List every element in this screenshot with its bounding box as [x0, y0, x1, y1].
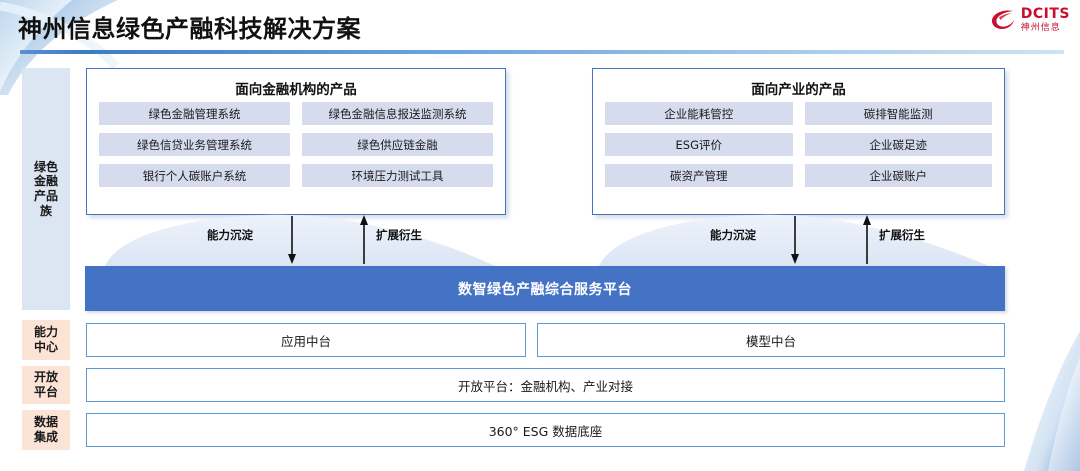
- platform-bar[interactable]: 数智绿色产融综合服务平台: [85, 266, 1005, 311]
- slide-canvas: 神州信息绿色产融科技解决方案 DCITS 神州信息 绿色金融产品族 能力中心 开…: [0, 0, 1080, 471]
- product-chip[interactable]: 绿色供应链金融: [302, 133, 493, 156]
- rail-item-green-finance-products: 绿色金融产品族: [22, 68, 70, 310]
- logo-text-en: DCITS: [1021, 7, 1070, 21]
- product-chip[interactable]: 碳排智能监测: [805, 102, 993, 125]
- product-chip[interactable]: 企业能耗管控: [605, 102, 793, 125]
- product-chip[interactable]: 绿色金融信息报送监测系统: [302, 102, 493, 125]
- arch-shape-left: [85, 214, 515, 266]
- layer-box-application-middle-platform[interactable]: 应用中台: [86, 323, 526, 357]
- product-chip[interactable]: 绿色信贷业务管理系统: [99, 133, 290, 156]
- layer-box-esg-data-foundation[interactable]: 360° ESG 数据底座: [86, 413, 1005, 447]
- layer-box-label: 开放平台：金融机构、产业对接: [458, 376, 633, 395]
- flow-label-extension-derivation: 扩展衍生: [376, 227, 422, 243]
- arrow-up-icon-right: [860, 214, 874, 266]
- logo-text-cn: 神州信息: [1021, 24, 1070, 33]
- product-panel-industry: 面向产业的产品 企业能耗管控 碳排智能监测 ESG评价 企业碳足迹 碳资产管理 …: [592, 68, 1005, 215]
- layer-box-label: 模型中台: [746, 331, 796, 350]
- header-divider: [20, 50, 1064, 54]
- product-chip[interactable]: 碳资产管理: [605, 164, 793, 187]
- product-chip[interactable]: 环境压力测试工具: [302, 164, 493, 187]
- rail-item-label: 能力中心: [34, 325, 58, 354]
- product-chip[interactable]: 银行个人碳账户系统: [99, 164, 290, 187]
- rail-item-label: 数据集成: [34, 415, 58, 444]
- panel-title: 面向产业的产品: [593, 78, 1004, 98]
- dcits-swirl-logo-icon: [990, 8, 1016, 32]
- brand-logo: DCITS 神州信息: [990, 7, 1070, 33]
- product-chip-grid: 绿色金融管理系统 绿色金融信息报送监测系统 绿色信贷业务管理系统 绿色供应链金融…: [99, 102, 493, 187]
- rail-item-open-platform: 开放平台: [22, 366, 70, 404]
- product-chip[interactable]: 绿色金融管理系统: [99, 102, 290, 125]
- capability-flow-band: 能力沉淀 扩展衍生 能力沉淀 扩展衍生: [85, 214, 1005, 266]
- layer-box-model-middle-platform[interactable]: 模型中台: [537, 323, 1005, 357]
- arrow-down-icon-left: [285, 214, 299, 266]
- flow-label-capability-precipitation: 能力沉淀: [710, 227, 756, 243]
- product-chip-grid: 企业能耗管控 碳排智能监测 ESG评价 企业碳足迹 碳资产管理 企业碳账户: [605, 102, 992, 187]
- product-panel-financial-institutions: 面向金融机构的产品 绿色金融管理系统 绿色金融信息报送监测系统 绿色信贷业务管理…: [86, 68, 506, 215]
- layer-box-label: 360° ESG 数据底座: [489, 421, 603, 440]
- rail-item-data-integration: 数据集成: [22, 410, 70, 450]
- layer-box-open-platform[interactable]: 开放平台：金融机构、产业对接: [86, 368, 1005, 402]
- flow-label-extension-derivation: 扩展衍生: [879, 227, 925, 243]
- arrow-up-icon-left: [357, 214, 371, 266]
- flow-label-capability-precipitation: 能力沉淀: [207, 227, 253, 243]
- product-chip[interactable]: 企业碳账户: [805, 164, 993, 187]
- platform-label: 数智绿色产融综合服务平台: [458, 279, 632, 299]
- page-title: 神州信息绿色产融科技解决方案: [18, 9, 361, 44]
- product-chip[interactable]: 企业碳足迹: [805, 133, 993, 156]
- layer-box-label: 应用中台: [281, 331, 331, 350]
- rail-item-label: 开放平台: [34, 370, 58, 399]
- arrow-down-icon-right: [788, 214, 802, 266]
- rail-item-capability-center: 能力中心: [22, 320, 70, 360]
- panel-title: 面向金融机构的产品: [87, 78, 505, 98]
- product-chip[interactable]: ESG评价: [605, 133, 793, 156]
- rail-item-label: 绿色金融产品族: [34, 160, 58, 219]
- slide-header: 神州信息绿色产融科技解决方案 DCITS 神州信息: [0, 0, 1080, 53]
